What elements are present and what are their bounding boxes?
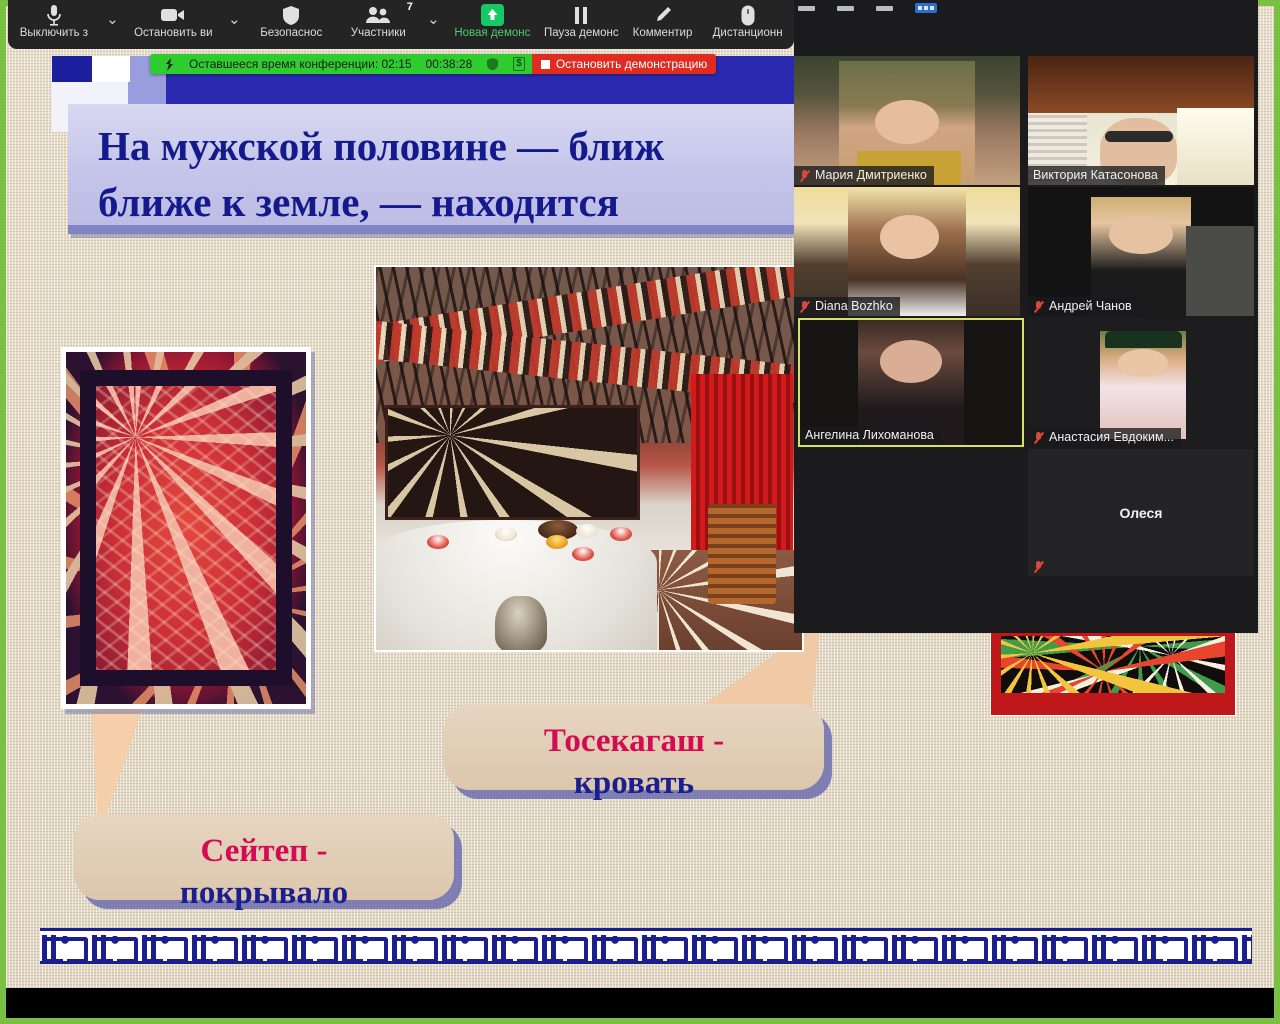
- ornament-motif: [942, 935, 988, 959]
- slide-title-line-1: На мужской половине — ближ: [98, 118, 806, 174]
- mic-muted-icon: [799, 169, 810, 182]
- zoom-logo-icon: [156, 58, 182, 71]
- shield-icon: [282, 3, 300, 27]
- slide-title-line-2: ближе к земле, — находится: [98, 174, 806, 230]
- close-button[interactable]: [876, 6, 893, 11]
- pencil-icon: [653, 3, 673, 27]
- toolbar-stop-video-button[interactable]: Остановить ви: [125, 0, 222, 49]
- stop-share-button[interactable]: Остановить демонстрацию: [532, 54, 716, 74]
- participants-video-panel: Мария Дмитриенко Виктория Катасонова: [794, 0, 1258, 633]
- toolbar-mute-audio-button[interactable]: Выключить з: [8, 0, 100, 49]
- zoom-toolbar: Выключить з ⌄ Остановить ви ⌄ Безопаснос…: [8, 0, 794, 49]
- shared-screen-frame: На мужской половине — ближ ближе к земле…: [0, 0, 1280, 1024]
- callout-tosekagash-line-2: кровать: [462, 762, 806, 804]
- toolbar-annotate-button[interactable]: Комментир: [624, 0, 701, 49]
- ornament-motif: [992, 935, 1038, 959]
- participants-count-badge: 7: [407, 1, 413, 13]
- participants-options-chevron-down-icon[interactable]: ⌄: [421, 0, 446, 49]
- participant-tile[interactable]: Анастасия Евдоким...: [1028, 318, 1254, 447]
- ornament-motif: [542, 935, 588, 959]
- grid-view-button[interactable]: [915, 3, 937, 13]
- mic-muted-icon: [1033, 300, 1044, 313]
- toolbar-participants-button[interactable]: 7 Участники: [336, 0, 421, 49]
- stop-square-icon: [541, 60, 550, 69]
- toolbar-remote-control-label: Дистанционн: [713, 27, 783, 39]
- panel-window-controls: [794, 0, 1258, 16]
- toolbar-participants-label: Участники: [351, 27, 406, 39]
- ornament-motif: [842, 935, 888, 959]
- participants-icon: [365, 3, 391, 27]
- remaining-time-label: Оставшееся время конференции: 02:15: [182, 57, 419, 71]
- callout-seytep-line-2: покрывало: [92, 872, 436, 914]
- ornament-motif: [92, 935, 138, 959]
- ornament-motif: [142, 935, 188, 959]
- toolbar-new-share-label: Новая демонс: [454, 27, 530, 39]
- encryption-shield-icon[interactable]: [479, 57, 506, 71]
- elapsed-time-label: 00:38:28: [419, 57, 480, 71]
- yurt-interior-image: [374, 265, 804, 652]
- video-camera-icon: [161, 3, 185, 27]
- participant-namebar: Анастасия Евдоким...: [1028, 428, 1181, 447]
- audio-options-chevron-down-icon[interactable]: ⌄: [100, 0, 125, 49]
- toolbar-stop-video-label: Остановить ви: [134, 27, 213, 39]
- carpet-image: [61, 347, 311, 709]
- toolbar-pause-share-label: Пауза демонс: [544, 27, 619, 39]
- toolbar-mute-audio-label: Выключить з: [20, 27, 88, 39]
- toolbar-security-button[interactable]: Безопаснос: [247, 0, 336, 49]
- participant-namebar: Виктория Катасонова: [1028, 166, 1165, 185]
- ornament-motif: [342, 935, 388, 959]
- ornament-motif: [792, 935, 838, 959]
- ornament-motif: [692, 935, 738, 959]
- ornament-motif: [1092, 935, 1138, 959]
- participant-name: Андрей Чанов: [1049, 299, 1132, 313]
- ornament-motif: [292, 935, 338, 959]
- ornament-motif: [1192, 935, 1238, 959]
- ornament-motif: [1242, 935, 1252, 959]
- mic-muted-icon: [799, 300, 810, 313]
- share-screen-up-arrow-icon: [480, 3, 505, 27]
- pause-icon: [573, 3, 589, 27]
- participant-namebar: Diana Bozhko: [794, 297, 900, 316]
- callout-tosekagash: Тосекагаш - кровать: [444, 704, 824, 790]
- toolbar-pause-share-button[interactable]: Пауза демонс: [539, 0, 624, 49]
- minimize-button[interactable]: [798, 6, 815, 11]
- maximize-button[interactable]: [837, 6, 854, 11]
- participant-namebar: Мария Дмитриенко: [794, 166, 934, 185]
- participant-name: Олеся: [1028, 449, 1254, 576]
- participant-tile-active-speaker[interactable]: Ангелина Лихоманова: [798, 318, 1024, 447]
- participant-tile[interactable]: Андрей Чанов: [1028, 187, 1254, 316]
- participant-namebar: Ангелина Лихоманова: [800, 426, 941, 445]
- ornament-motif: [1042, 935, 1088, 959]
- mic-muted-icon: [1033, 431, 1044, 444]
- participant-name: Ангелина Лихоманова: [805, 428, 934, 442]
- participant-name: Diana Bozhko: [815, 299, 893, 313]
- embroidery-image: [990, 630, 1236, 716]
- toolbar-annotate-label: Комментир: [633, 27, 693, 39]
- slide-letterbox-bottom: [6, 988, 1274, 1018]
- participant-namebar: Андрей Чанов: [1028, 297, 1139, 316]
- toolbar-security-label: Безопаснос: [260, 27, 322, 39]
- ornament-motif: [392, 935, 438, 959]
- kazakh-ornament-border: [40, 928, 1252, 964]
- toolbar-new-share-button[interactable]: Новая демонс: [446, 0, 539, 49]
- participant-tile-audio-only[interactable]: Олеся: [1028, 449, 1254, 576]
- participant-name: Анастасия Евдоким...: [1049, 430, 1174, 444]
- ornament-motif: [42, 935, 88, 959]
- ornament-motif: [1142, 935, 1188, 959]
- ornament-motif: [592, 935, 638, 959]
- meeting-info-bar: Оставшееся время конференции: 02:15 00:3…: [150, 54, 716, 74]
- ornament-motif: [492, 935, 538, 959]
- toolbar-remote-control-button[interactable]: Дистанционн: [701, 0, 794, 49]
- participant-name: Мария Дмитриенко: [815, 168, 927, 182]
- ornament-motif: [192, 935, 238, 959]
- participant-name: Виктория Катасонова: [1033, 168, 1158, 182]
- ornament-motif: [242, 935, 288, 959]
- ornament-motif: [742, 935, 788, 959]
- microphone-icon: [46, 3, 62, 27]
- participant-tile[interactable]: Мария Дмитриенко: [794, 56, 1020, 185]
- participant-tile[interactable]: Diana Bozhko: [794, 187, 1020, 316]
- callout-tosekagash-line-1: Тосекагаш -: [462, 720, 806, 762]
- participant-namebar: [1028, 558, 1051, 576]
- callout-seytep-line-1: Сейтеп -: [92, 830, 436, 872]
- participant-tile[interactable]: Виктория Катасонова: [1028, 56, 1254, 185]
- slide-title: На мужской половине — ближ ближе к земле…: [68, 104, 806, 234]
- ornament-motif: [642, 935, 688, 959]
- billing-dollar-icon[interactable]: $: [506, 57, 532, 71]
- callout-seytep: Сейтеп - покрывало: [74, 814, 454, 900]
- ornament-motif: [892, 935, 938, 959]
- stop-share-label: Остановить демонстрацию: [556, 57, 707, 71]
- mic-muted-icon: [1033, 560, 1044, 573]
- ornament-motif: [442, 935, 488, 959]
- mouse-icon: [741, 3, 755, 27]
- video-options-chevron-down-icon[interactable]: ⌄: [222, 0, 247, 49]
